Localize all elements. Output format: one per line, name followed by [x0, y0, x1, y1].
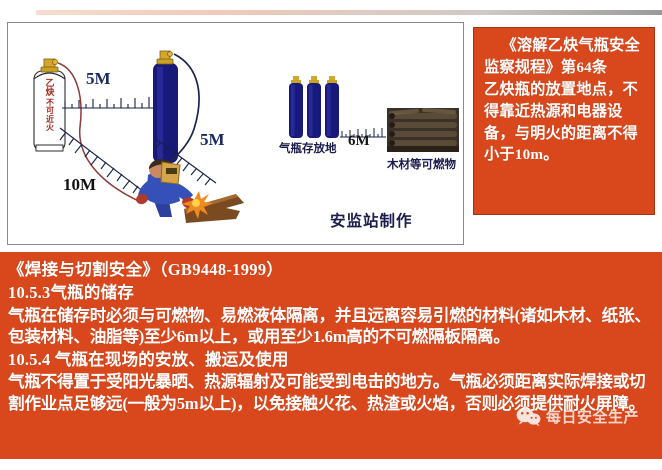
- regulation-citation: 《溶解乙炔气瓶安全监察规程》第64条: [484, 35, 646, 79]
- ruler-5m-horizontal: [62, 97, 153, 108]
- label-distance-6m: 6M: [348, 133, 370, 150]
- label-combustible-wood: 木材等可燃物: [387, 156, 456, 172]
- wood-log-pile: [387, 108, 459, 152]
- warning-char-2: 炔: [41, 88, 59, 97]
- label-distance-5m-horizontal: 5M: [86, 69, 111, 89]
- label-producer-credit: 安监站制作: [330, 209, 413, 231]
- storage-cylinder-1: [289, 76, 303, 138]
- label-distance-5m-diagonal: 5M: [200, 130, 225, 150]
- acetylene-cylinder-warning-text: 乙 炔 不 可 近 火: [41, 79, 59, 132]
- regulation-body: 乙炔瓶的放置地点，不得靠近热源和电器设备，与明火的距离不得小于10m。: [484, 79, 646, 167]
- safety-distance-illustration: 乙 炔 不 可 近 火 5M 5M 10M 6M 气瓶存放地 木材等可燃物 安监…: [7, 22, 464, 245]
- standard-requirements-panel: 《焊接与切割安全》（GB9448-1999） 10.5.3气瓶的储存 气瓶在储存…: [0, 252, 662, 459]
- clause-1054-text: 气瓶不得置于受阳光暴晒、热源辐射及可能受到电击的地方。气瓶必须距离实际焊接或切割…: [8, 371, 653, 414]
- warning-char-6: 火: [41, 124, 59, 132]
- storage-cylinder-group: [289, 76, 339, 138]
- standard-title: 《焊接与切割安全》（GB9448-1999）: [8, 259, 653, 281]
- regulation-callout-box: 《溶解乙炔气瓶安全监察规程》第64条 乙炔瓶的放置地点，不得靠近热源和电器设备，…: [473, 27, 655, 215]
- label-cylinder-storage: 气瓶存放地: [279, 140, 337, 156]
- storage-cylinder-2: [307, 76, 321, 138]
- clause-1053-heading: 10.5.3气瓶的储存: [8, 281, 653, 304]
- clause-1053-text: 气瓶在储存时必须与可燃物、易燃液体隔离，并且远离容易引燃的材料(诸如木材、纸张、…: [8, 305, 653, 348]
- welder-figure: [135, 159, 244, 223]
- label-distance-10m: 10M: [63, 175, 96, 195]
- clause-1054-heading: 10.5.4 气瓶在现场的安放、搬运及使用: [8, 348, 653, 371]
- decorative-gradient-rule: [36, 10, 662, 15]
- storage-cylinder-3: [325, 76, 339, 138]
